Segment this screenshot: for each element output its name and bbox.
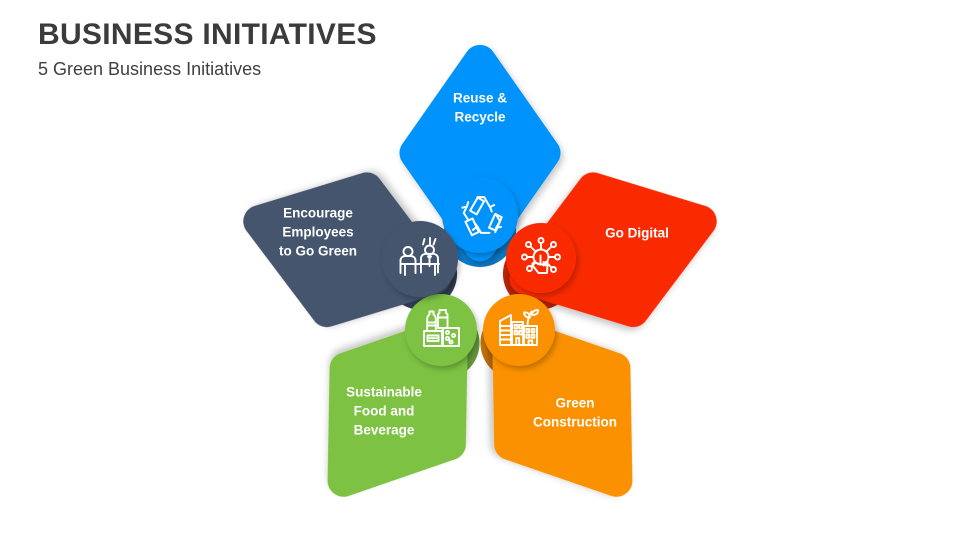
petal-label-encourage-employees-line2: Employees — [282, 225, 353, 240]
icon-circle-green-construction[interactable] — [483, 294, 555, 366]
business-initiatives-flower-diagram: Reuse & Recycle Go Digital — [0, 0, 960, 540]
icon-circle-bg-encourage-employees — [382, 221, 458, 297]
petal-label-encourage-employees-line3: to Go Green — [279, 244, 357, 259]
petal-label-sustainable-food-and-beverage-line1: Sustainable — [346, 385, 422, 400]
petal-label-sustainable-food-and-beverage-line3: Beverage — [354, 423, 415, 438]
petal-label-encourage-employees-line1: Encourage — [283, 206, 353, 221]
icon-circle-encourage-employees[interactable] — [382, 221, 458, 297]
petal-label-go-digital-line1: Go Digital — [605, 226, 669, 241]
petal-label-reuse-recycle-line1: Reuse & — [453, 91, 507, 106]
petal-label-reuse-recycle-line2: Recycle — [454, 110, 506, 125]
petal-label-sustainable-food-and-beverage-line2: Food and — [354, 404, 415, 419]
petal-label-green-construction-line1: Green — [555, 396, 594, 411]
icon-circle-bg-sustainable-food-and-beverage — [405, 294, 477, 366]
slide-canvas: BUSINESS INITIATIVES 5 Green Business In… — [0, 0, 960, 540]
icon-circle-bg-green-construction — [483, 294, 555, 366]
petal-label-green-construction-line2: Construction — [533, 415, 617, 430]
icon-circle-sustainable-food-and-beverage[interactable] — [405, 294, 477, 366]
icon-circle-go-digital[interactable] — [506, 223, 576, 293]
